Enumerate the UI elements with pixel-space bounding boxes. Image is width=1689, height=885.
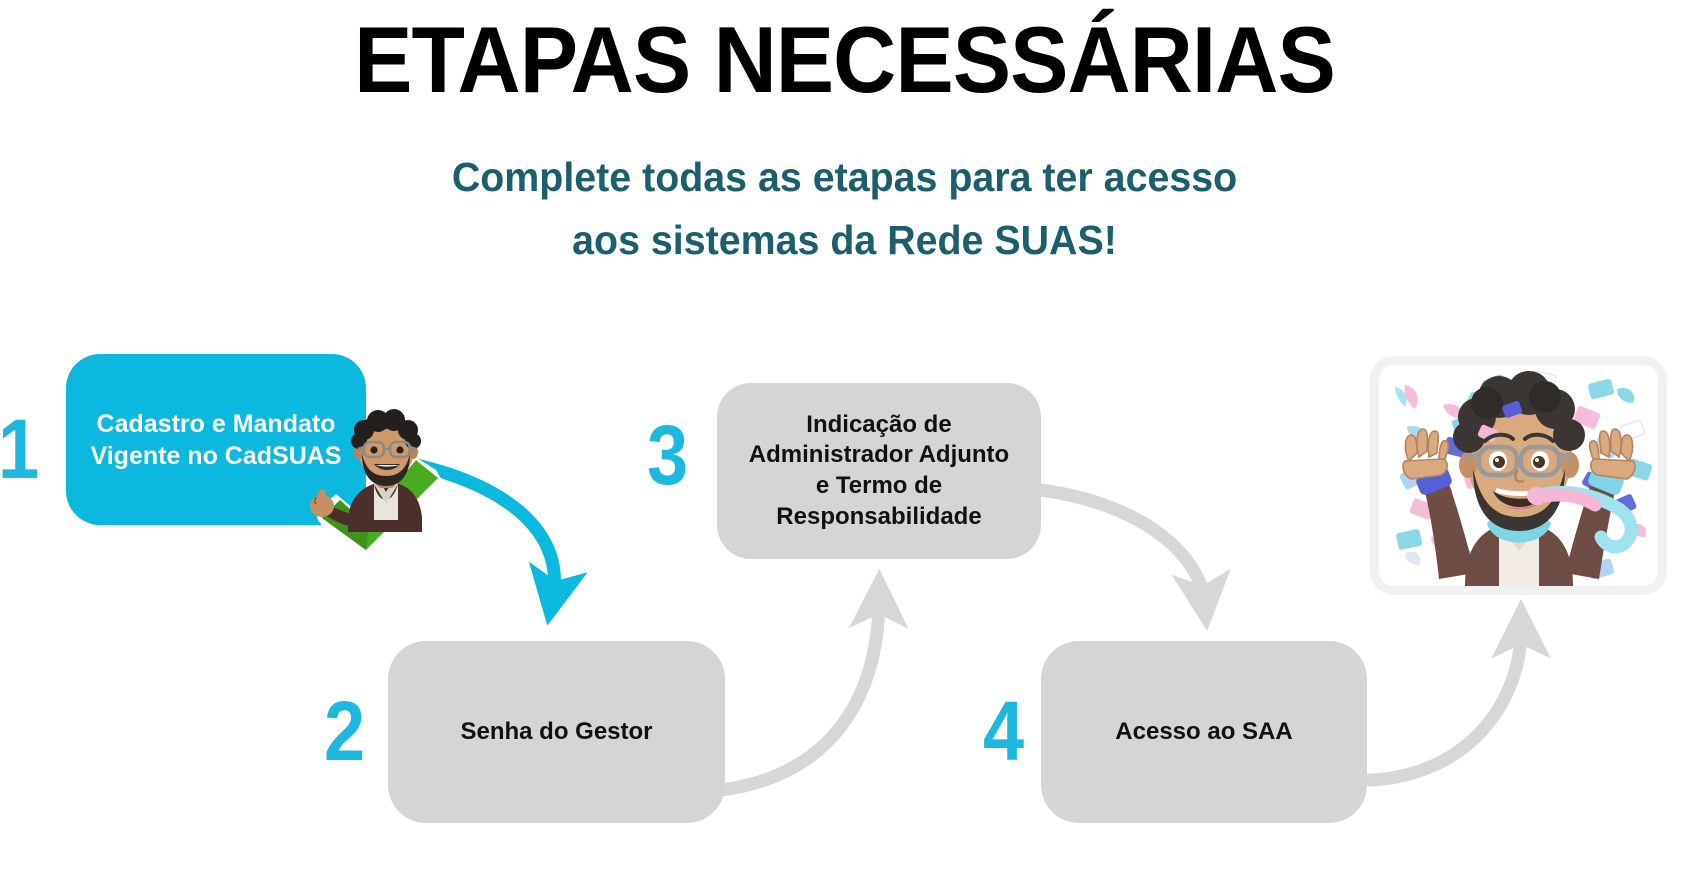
arrow-step2-to-step3 bbox=[722, 600, 879, 790]
step-label-3-line-3: e Termo de bbox=[816, 472, 942, 499]
step-box-3[interactable]: Indicação de Administrador Adjunto e Ter… bbox=[717, 383, 1041, 559]
page-subtitle-line-1: Complete todas as etapas para ter acesso bbox=[34, 146, 1655, 209]
step-number-1: 1 bbox=[0, 407, 39, 491]
celebration-card bbox=[1370, 356, 1667, 595]
page-title: ETAPAS NECESSÁRIAS bbox=[59, 8, 1630, 112]
arrow-step4-to-celebration bbox=[1371, 630, 1521, 780]
page-subtitle-line-2: aos sistemas da Rede SUAS! bbox=[34, 209, 1655, 272]
step-label-3: Indicação de Administrador Adjunto e Ter… bbox=[749, 410, 1009, 533]
step-label-3-line-2: Administrador Adjunto bbox=[749, 441, 1009, 468]
step-box-2[interactable]: Senha do Gestor bbox=[388, 641, 725, 823]
arrow-step3-to-step4 bbox=[1041, 490, 1204, 600]
step-label-3-line-1: Indicação de bbox=[806, 411, 951, 438]
step-label-3-line-4: Responsabilidade bbox=[776, 503, 981, 530]
step-box-4[interactable]: Acesso ao SAA bbox=[1041, 641, 1367, 823]
step-number-3: 3 bbox=[647, 413, 688, 497]
page-subtitle: Complete todas as etapas para ter acesso… bbox=[34, 146, 1655, 272]
bitmoji-thumbs-up-check-icon bbox=[300, 408, 465, 573]
step-label-4: Acesso ao SAA bbox=[1115, 717, 1292, 748]
step-number-2: 2 bbox=[324, 689, 365, 773]
infographic-canvas: ETAPAS NECESSÁRIAS Complete todas as eta… bbox=[0, 0, 1689, 885]
step-number-4: 4 bbox=[983, 689, 1024, 773]
bitmoji-celebration-icon bbox=[1379, 365, 1658, 586]
step-label-2: Senha do Gestor bbox=[460, 717, 652, 748]
